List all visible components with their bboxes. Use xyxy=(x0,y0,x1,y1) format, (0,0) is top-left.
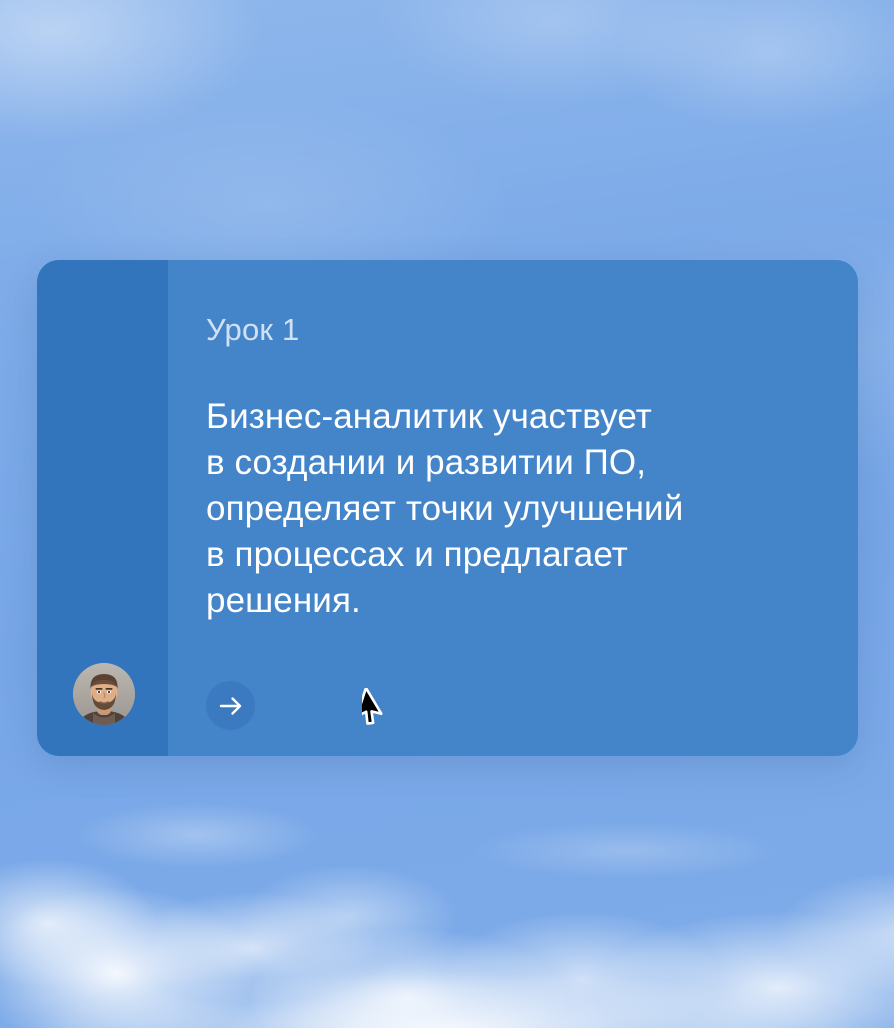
lesson-number-label: Урок 1 xyxy=(206,296,818,350)
card-accent-rail xyxy=(37,260,168,756)
lesson-card[interactable]: Урок 1 Бизнес-аналитик участвует в созда… xyxy=(37,260,858,756)
card-body: Урок 1 Бизнес-аналитик участвует в созда… xyxy=(168,260,858,756)
arrow-right-icon xyxy=(219,696,243,716)
lesson-statement-text: Бизнес-аналитик участвует в создании и р… xyxy=(206,350,818,624)
next-button[interactable] xyxy=(206,681,255,730)
avatar[interactable] xyxy=(73,663,135,725)
